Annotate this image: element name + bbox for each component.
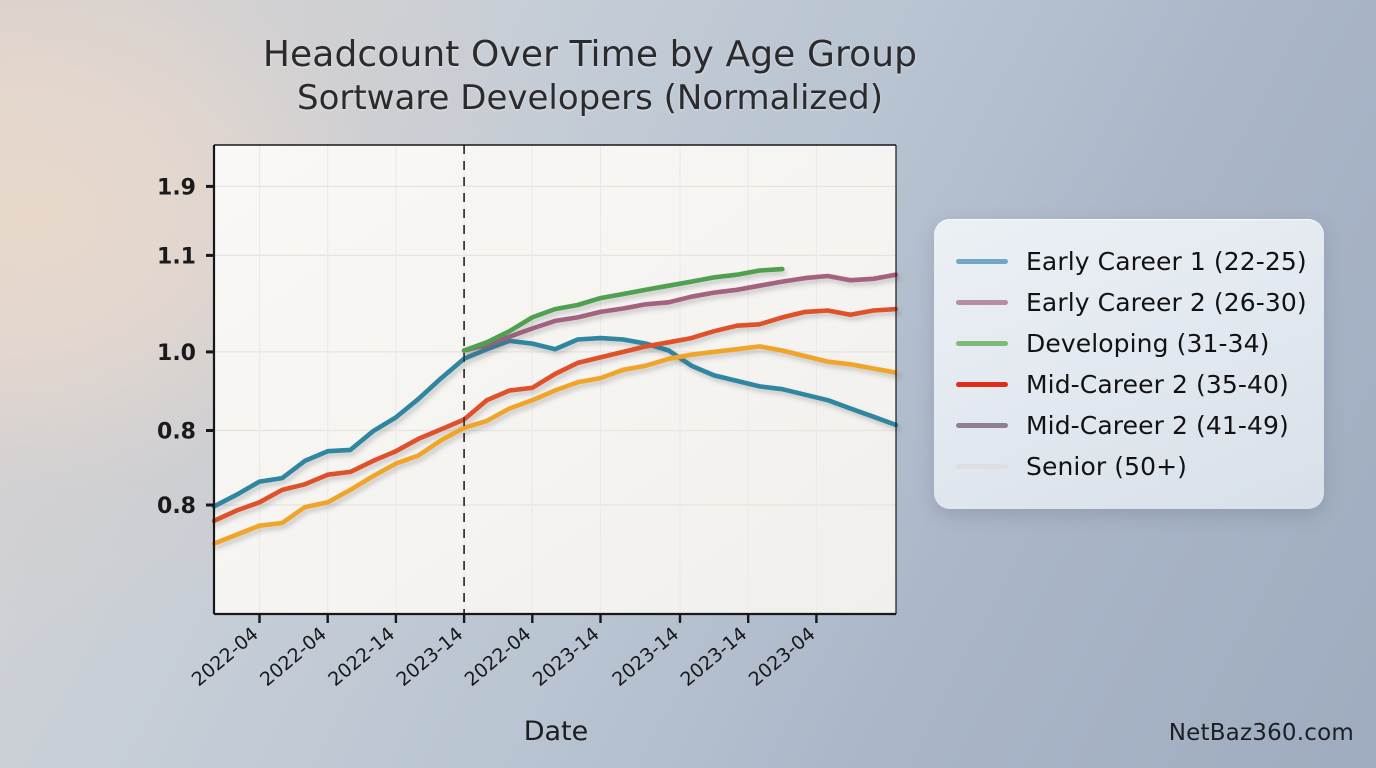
x-axis-label: Date bbox=[524, 716, 589, 747]
legend-item-label: Senior (50+) bbox=[1026, 452, 1187, 481]
legend-swatch-icon bbox=[956, 259, 1008, 264]
legend-item[interactable]: Developing (31-34) bbox=[956, 323, 1304, 364]
x-tick-label: 2023-14 bbox=[608, 623, 683, 691]
watermark: NetBaz360.com bbox=[1169, 720, 1354, 746]
legend-swatch-icon bbox=[956, 341, 1008, 346]
x-tick-label: 2022-14 bbox=[324, 623, 399, 691]
plot-background bbox=[214, 145, 896, 614]
legend-swatch-icon bbox=[956, 300, 1008, 305]
legend-item-label: Early Career 1 (22-25) bbox=[1026, 247, 1307, 276]
y-tick-label: 1.0 bbox=[157, 341, 196, 366]
y-axis-ticks: 1.91.11.00.80.8 bbox=[157, 175, 214, 519]
x-tick-label: 2023-14 bbox=[676, 623, 751, 691]
x-tick-label: 2022-04 bbox=[461, 623, 536, 691]
x-tick-label: 2023-14 bbox=[392, 623, 467, 691]
legend-item-label: Mid-Career 2 (35-40) bbox=[1026, 370, 1289, 399]
legend-item-label: Developing (31-34) bbox=[1026, 329, 1269, 358]
chart-canvas: Headcount Over Time by Age Group Sortwar… bbox=[0, 0, 1376, 768]
y-tick-label: 0.8 bbox=[157, 494, 196, 519]
x-tick-label: 2022-04 bbox=[256, 623, 331, 691]
legend-item[interactable]: Early Career 2 (26-30) bbox=[956, 282, 1304, 323]
legend-item[interactable]: Senior (50+) bbox=[956, 446, 1304, 487]
legend-swatch-icon bbox=[956, 423, 1008, 428]
x-tick-label: 2023-14 bbox=[529, 623, 604, 691]
legend-item[interactable]: Early Career 1 (22-25) bbox=[956, 241, 1304, 282]
legend-item[interactable]: Mid-Career 2 (35-40) bbox=[956, 364, 1304, 405]
y-tick-label: 0.8 bbox=[157, 420, 196, 445]
legend-item-label: Mid-Career 2 (41-49) bbox=[1026, 411, 1289, 440]
legend-swatch-icon bbox=[956, 464, 1008, 469]
x-tick-label: 2023-04 bbox=[745, 623, 820, 691]
legend-item[interactable]: Mid-Career 2 (41-49) bbox=[956, 405, 1304, 446]
y-tick-label: 1.1 bbox=[157, 244, 196, 269]
legend-item-label: Early Career 2 (26-30) bbox=[1026, 288, 1307, 317]
legend-swatch-icon bbox=[956, 382, 1008, 387]
x-axis-ticks: 2022-042022-042022-142023-142022-042023-… bbox=[188, 614, 820, 691]
x-tick-label: 2022-04 bbox=[188, 623, 263, 691]
y-tick-label: 1.9 bbox=[157, 175, 196, 200]
chart-legend: Early Career 1 (22-25) Early Career 2 (2… bbox=[934, 219, 1324, 509]
